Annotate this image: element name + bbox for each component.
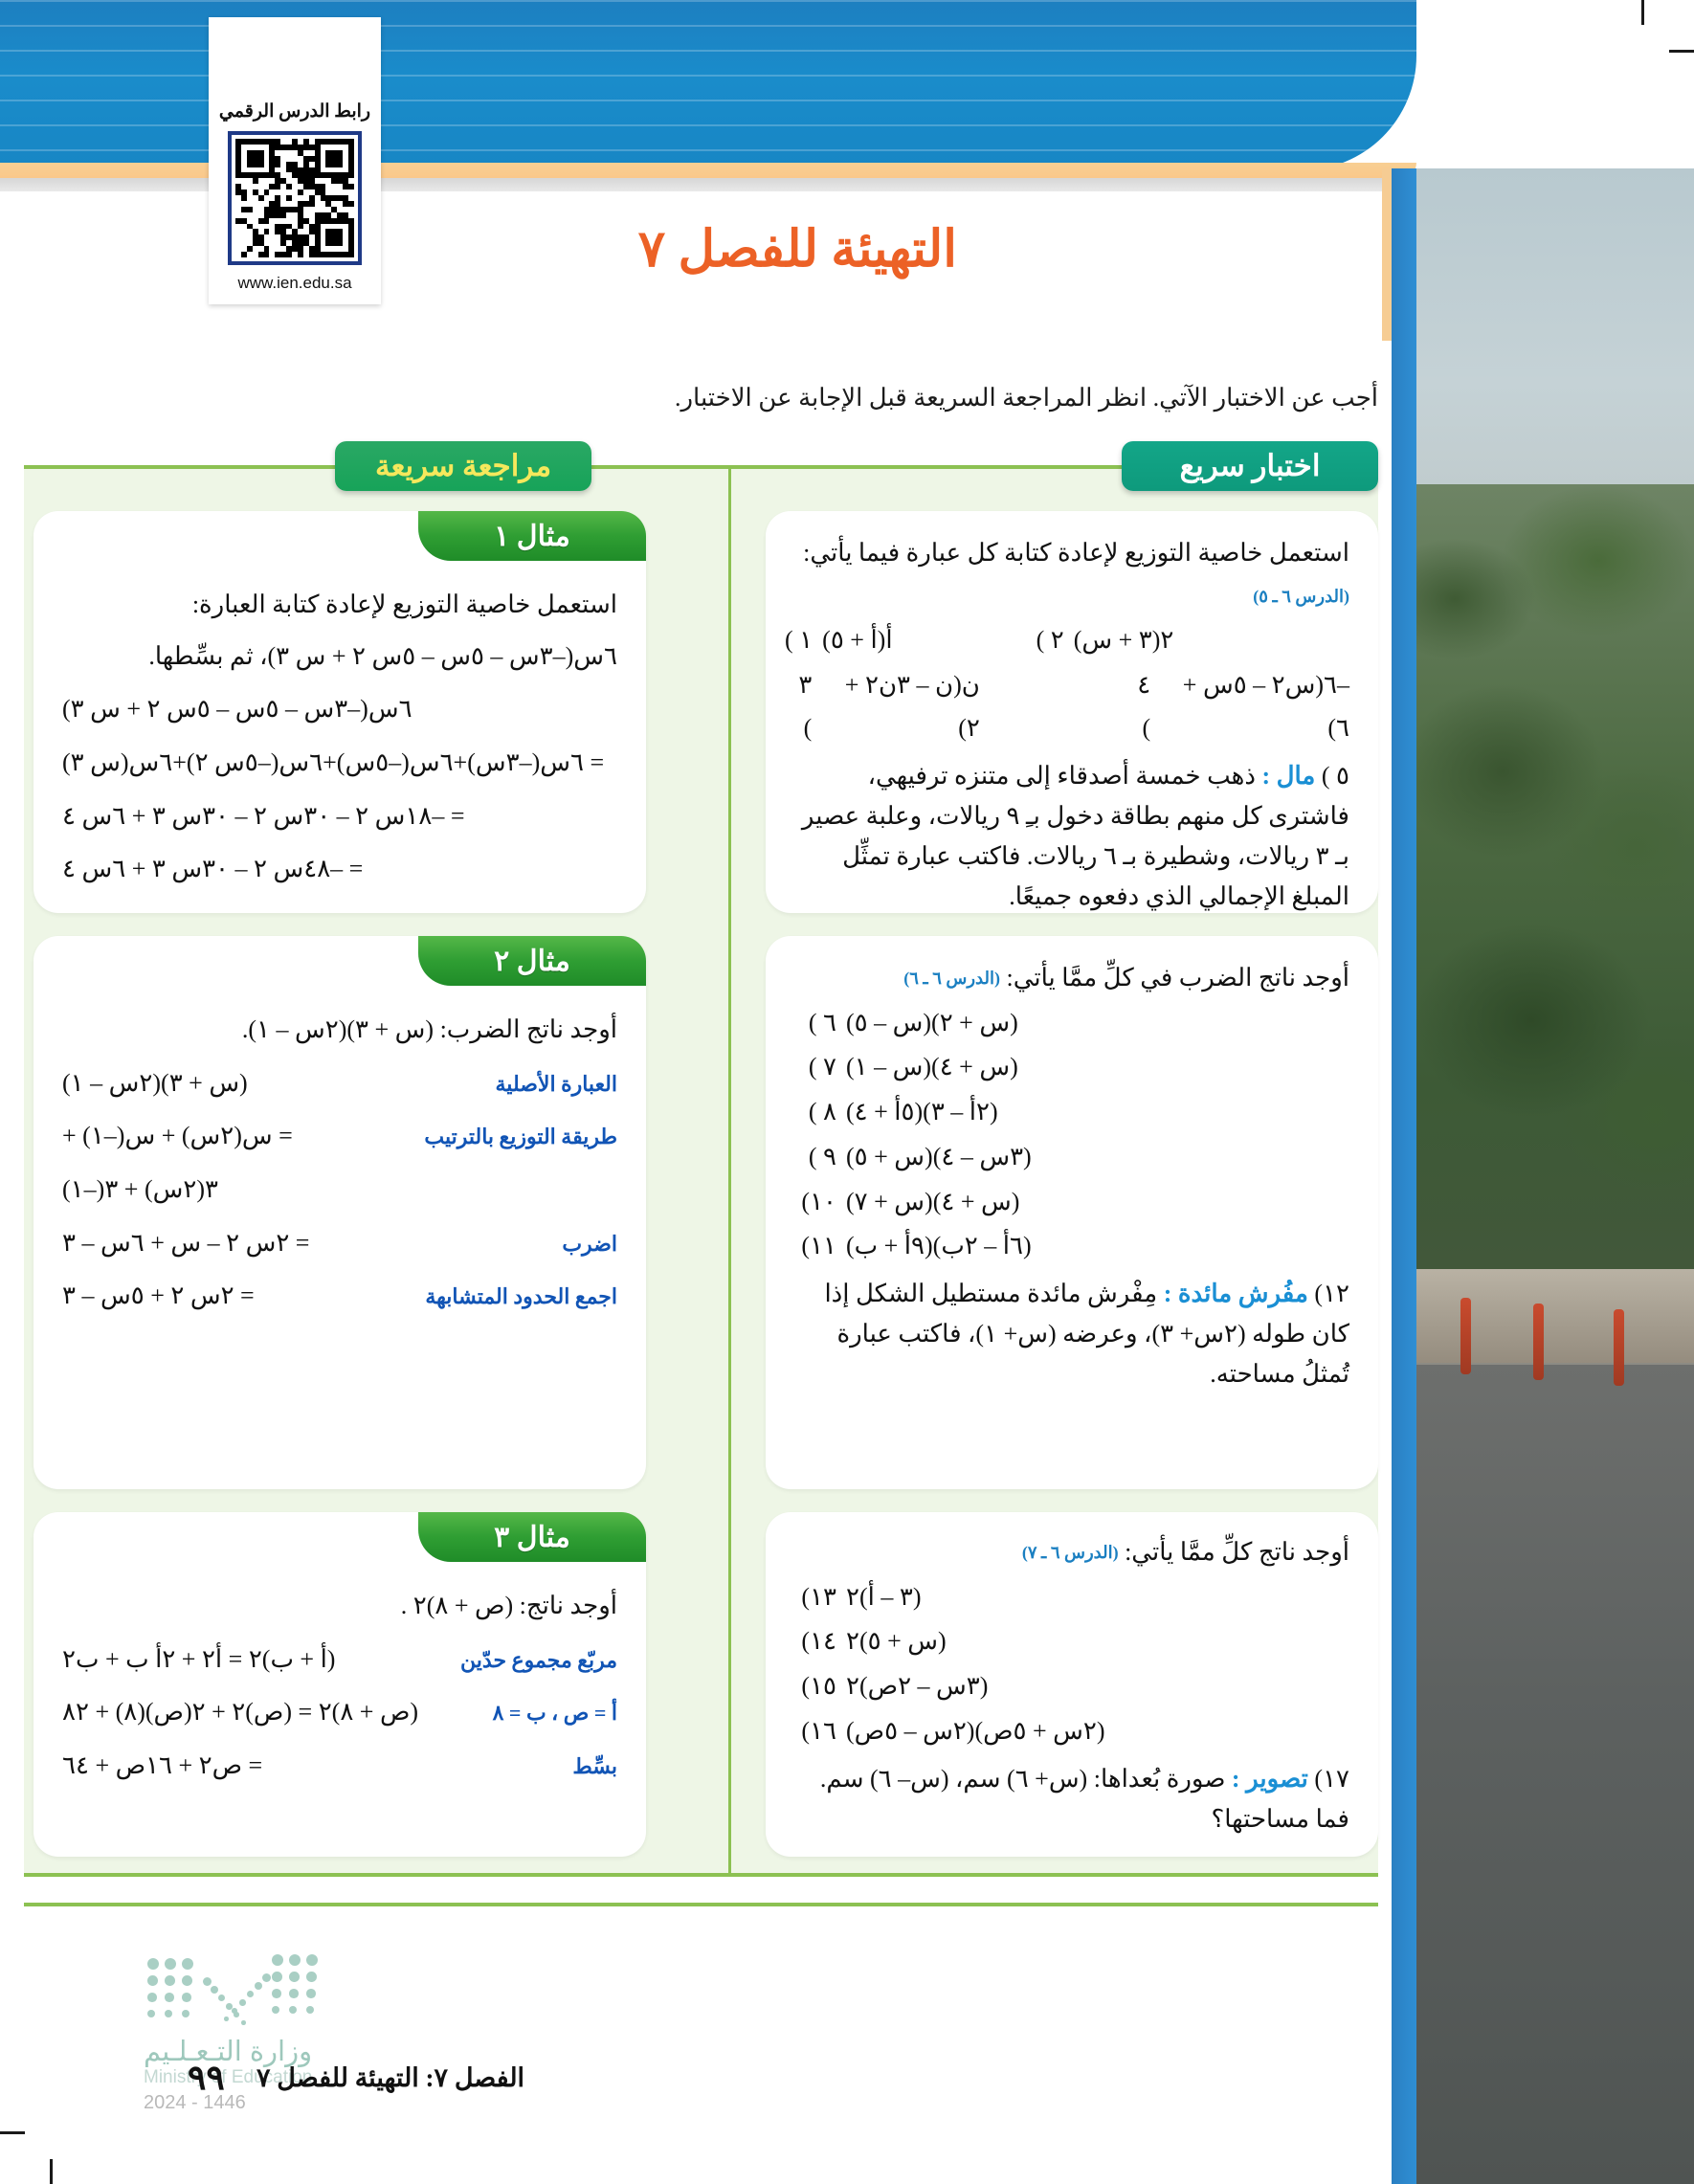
section-header-review: مراجعة سريعة — [335, 441, 591, 491]
example-prompt-line: ٦س(–٣س – ٥س – ٥س ٢ + س ٣)، ثم بسِّطها. — [62, 635, 617, 678]
quiz-item-expression: (٣س – ٢ص)٢ — [846, 1665, 988, 1708]
quiz-item-expression: ٢(٣ + س) — [1074, 619, 1174, 662]
step-note: أ = ص ، ب = ٨ — [489, 1696, 617, 1731]
step-expression: (أ + ب)٢ = أ٢ + ٢أ ب + ب٢ — [62, 1638, 335, 1681]
quiz-prompt-2: أوجد ناتج الضرب في كلِّ ممَّا يأتي: (الد… — [785, 957, 1349, 1000]
step-expression: ٣(٢س) + ٣(–١) — [62, 1169, 218, 1211]
quiz-word-problem-12[interactable]: ١٢) مفُرش مائدة : مِفْرش مائدة مستطيل ال… — [785, 1274, 1349, 1394]
quiz-group-3: أوجد ناتج كلِّ ممَّا يأتي: (الدرس ٦ ـ ٧)… — [785, 1531, 1349, 1839]
step-expression: = –١٨س ٢ – ٣٠س ٢ – ٣٠س ٣ + ٦س ٤ — [62, 795, 465, 837]
review-example-3: أوجد ناتج: (ص + ٨)٢ . (أ + ب)٢ = أ٢ + ٢أ… — [62, 1575, 617, 1787]
example-tab-2: مثال ٢ — [418, 936, 646, 986]
photo-blue-edge — [1392, 168, 1416, 2184]
quiz-item-number: ٨ ) — [785, 1091, 836, 1134]
example-step: (س + ٣)(٢س – ١) العبارة الأصلية — [62, 1062, 617, 1104]
quiz-item-expression: (٦أ – ٢ب)(٩أ + ب) — [846, 1225, 1032, 1268]
photo-bollard — [1533, 1304, 1544, 1380]
review-example-2: أوجد ناتج الضرب: (س + ٣)(٢س – ١). (س + ٣… — [62, 999, 617, 1317]
quiz-item-expression: (٢أ – ٣)(٥أ + ٤) — [846, 1091, 998, 1134]
quiz-item-expression: (س + ٥)٢ — [846, 1620, 947, 1663]
quiz-item-number: ١٧) — [1314, 1765, 1349, 1793]
quiz-item-number: ١٦) — [785, 1710, 836, 1753]
quiz-item-number: ٤ ) — [1124, 664, 1150, 749]
step-note: اجمع الحدود المتشابهة — [421, 1280, 617, 1315]
quiz-item-9[interactable]: ٩ ) (٣س – ٤)(س + ٥) — [785, 1136, 1349, 1179]
quiz-item-number: ٣ ) — [785, 664, 812, 749]
example-tab-1: مثال ١ — [418, 511, 646, 561]
quiz-item-15[interactable]: ١٥) (٣س – ٢ص)٢ — [785, 1665, 1349, 1708]
step-expression: = س(٢س) + س(–١) + — [62, 1115, 293, 1157]
quiz-item-3[interactable]: ٣ ) ن(ن – ٣ن٢ + ٢) — [785, 664, 980, 749]
quiz-prompt-text: استعمل خاصية التوزيع لإعادة كتابة كل عبا… — [803, 539, 1349, 567]
quiz-item-number: ١٣) — [785, 1576, 836, 1619]
quiz-item-number: ١١) — [785, 1225, 836, 1268]
quiz-item-13[interactable]: ١٣) (٣ – أ)٢ — [785, 1576, 1349, 1619]
step-expression: = –٤٨س ٢ – ٣٠س ٣ + ٦س ٤ — [62, 848, 363, 890]
quiz-item-expression: –٦(س٢ – ٥س + ٦) — [1160, 664, 1349, 749]
page-number: ٩٩ — [188, 2058, 225, 2098]
step-note: العبارة الأصلية — [492, 1067, 617, 1103]
qr-label: رابط الدرس الرقمي — [219, 100, 370, 123]
quiz-item-number: ١ ) — [785, 619, 813, 662]
example-step: (ص + ٨)٢ = (ص)٢ + ٢(ص)(٨) + ٨٢ أ = ص ، ب… — [62, 1691, 617, 1733]
quiz-word-problem-5[interactable]: ٥ ) مال : ذهب خمسة أصدقاء إلى متنزه ترفي… — [785, 756, 1349, 917]
crop-mark-bottom-left-v — [50, 2159, 53, 2184]
example-step: (أ + ب)٢ = أ٢ + ٢أ ب + ب٢ مربّع مجموع حد… — [62, 1638, 617, 1681]
quiz-item-number: ٧ ) — [785, 1046, 836, 1089]
step-note: اضرب — [558, 1227, 617, 1262]
quiz-item-4[interactable]: ٤ ) –٦(س٢ – ٥س + ٦) — [1124, 664, 1349, 749]
quiz-item-expression: (٢س + ٥ص)(٢س – ٥ص) — [846, 1710, 1105, 1753]
quiz-item-6[interactable]: ٦ ) (س + ٢)(س – ٥) — [785, 1002, 1349, 1045]
quiz-item-number: ٥ ) — [1322, 762, 1349, 790]
quiz-item-number: ٩ ) — [785, 1136, 836, 1179]
page-title: التهيئة للفصل ٧ — [638, 220, 957, 279]
quiz-prompt-3: أوجد ناتج كلِّ ممَّا يأتي: (الدرس ٦ ـ ٧) — [785, 1531, 1349, 1574]
example-prompt-line: أوجد ناتج الضرب: (س + ٣)(٢س – ١). — [62, 1009, 617, 1051]
quiz-item-expression: (س + ٤)(س – ١) — [846, 1046, 1018, 1089]
quiz-item-10[interactable]: ١٠) (س + ٤)(س + ٧) — [785, 1181, 1349, 1224]
example-step: = س(٢س) + س(–١) + طريقة التوزيع بالترتيب — [62, 1115, 617, 1157]
example-step: = ٢س ٢ + ٥س – ٣ اجمع الحدود المتشابهة — [62, 1275, 617, 1317]
quiz-row: ١ ) أ(أ + ٥) ٢ ) ٢(٣ + س) — [785, 619, 1349, 662]
quiz-item-expression: أ(أ + ٥) — [822, 619, 892, 662]
decorative-photo — [1416, 168, 1694, 2184]
quiz-item-1[interactable]: ١ ) أ(أ + ٥) — [785, 619, 893, 662]
lesson-tag: (الدرس ٦ ـ ٧) — [1022, 1543, 1119, 1562]
quiz-item-8[interactable]: ٨ ) (٢أ – ٣)(٥أ + ٤) — [785, 1091, 1349, 1134]
quiz-prompt-text: أوجد ناتج كلِّ ممَّا يأتي: — [1125, 1538, 1349, 1566]
photo-road — [1416, 1365, 1694, 2184]
quiz-keyword: مفُرش مائدة : — [1164, 1280, 1308, 1307]
step-note: طريقة التوزيع بالترتيب — [420, 1120, 617, 1155]
quiz-item-expression: ن(ن – ٣ن٢ + ٢) — [821, 664, 980, 749]
review-example-1: استعمل خاصية التوزيع لإعادة كتابة العبار… — [62, 574, 617, 890]
example-step: = ٢س ٢ – س + ٦س – ٣ اضرب — [62, 1222, 617, 1264]
example-step: = –١٨س ٢ – ٣٠س ٢ – ٣٠س ٣ + ٦س ٤ — [62, 795, 617, 837]
logo-dots-pattern — [144, 1952, 345, 2029]
quiz-item-7[interactable]: ٧ ) (س + ٤)(س – ١) — [785, 1046, 1349, 1089]
step-expression: = ص٢ + ١٦ص + ٦٤ — [62, 1745, 262, 1787]
step-expression: = ٦س(–٣س)+٦س(–٥س)+٦س(–٥س ٢)+٦س(س ٣) — [62, 742, 604, 784]
quiz-item-number: ١٠) — [785, 1181, 836, 1224]
quiz-row: ٣ ) ن(ن – ٣ن٢ + ٢) ٤ ) –٦(س٢ – ٥س + ٦) — [785, 664, 1349, 749]
crop-mark-top-right-v — [1641, 0, 1644, 25]
quiz-item-number: ١٤) — [785, 1620, 836, 1663]
example-prompt-line: استعمل خاصية التوزيع لإعادة كتابة العبار… — [62, 584, 617, 626]
quiz-item-number: ١٢) — [1314, 1280, 1349, 1307]
quiz-item-2[interactable]: ٢ ) ٢(٣ + س) — [1036, 619, 1174, 662]
photo-bollard — [1614, 1309, 1624, 1386]
step-expression: = ٢س ٢ – س + ٦س – ٣ — [62, 1222, 309, 1264]
step-expression: (ص + ٨)٢ = (ص)٢ + ٢(ص)(٨) + ٨٢ — [62, 1691, 418, 1733]
quiz-item-expression: (٣س – ٤)(س + ٥) — [846, 1136, 1032, 1179]
quiz-keyword: مال : — [1261, 762, 1315, 790]
quiz-group-1: استعمل خاصية التوزيع لإعادة كتابة كل عبا… — [785, 532, 1349, 917]
example-step: = –٤٨س ٢ – ٣٠س ٣ + ٦س ٤ — [62, 848, 617, 890]
quiz-item-expression: (س + ٢)(س – ٥) — [846, 1002, 1018, 1045]
photo-bollard — [1460, 1298, 1471, 1374]
example-step: ٣(٢س) + ٣(–١) — [62, 1169, 617, 1211]
intro-text: أجب عن الاختبار الآتي. انظر المراجعة الس… — [364, 381, 1378, 415]
quiz-item-number: ١٥) — [785, 1665, 836, 1708]
qr-url: www.ien.edu.sa — [237, 274, 351, 293]
step-note: مربّع مجموع حدّين — [457, 1643, 617, 1679]
digital-lesson-qr-card[interactable]: رابط الدرس الرقمي www.ien.edu.sa — [209, 17, 381, 304]
crop-mark-top-right-h — [1669, 50, 1694, 53]
step-note: بسِّط — [568, 1749, 617, 1785]
footer-caption: الفصل ٧: التهيئة للفصل ٧ — [256, 2063, 524, 2093]
step-expression: = ٢س ٢ + ٥س – ٣ — [62, 1275, 255, 1317]
column-divider — [728, 465, 731, 1877]
quiz-item-11[interactable]: ١١) (٦أ – ٢ب)(٩أ + ب) — [785, 1225, 1349, 1268]
example-prompt-line: أوجد ناتج: (ص + ٨)٢ . — [62, 1585, 617, 1627]
example-step: = ٦س(–٣س)+٦س(–٥س)+٦س(–٥س ٢)+٦س(س ٣) — [62, 742, 617, 784]
qr-code-image[interactable] — [228, 131, 362, 265]
section-header-quiz: اختبار سريع — [1122, 441, 1378, 491]
step-expression: ٦س(–٣س – ٥س – ٥س ٢ + س ٣) — [62, 688, 412, 730]
quiz-item-14[interactable]: ١٤) (س + ٥)٢ — [785, 1620, 1349, 1663]
example-tab-3: مثال ٣ — [418, 1512, 646, 1562]
quiz-item-number: ٦ ) — [785, 1002, 836, 1045]
step-expression: (س + ٣)(٢س – ١) — [62, 1062, 248, 1104]
example-step: ٦س(–٣س – ٥س – ٥س ٢ + س ٣) — [62, 688, 617, 730]
lesson-tag: (الدرس ٦ ـ ٦) — [903, 969, 1000, 988]
quiz-prompt-1: استعمل خاصية التوزيع لإعادة كتابة كل عبا… — [785, 532, 1349, 617]
quiz-prompt-text: أوجد ناتج الضرب في كلِّ ممَّا يأتي: — [1006, 964, 1349, 992]
quiz-word-problem-17[interactable]: ١٧) تصوير : صورة بُعداها: (س+ ٦) سم، (س–… — [785, 1759, 1349, 1839]
quiz-group-2: أوجد ناتج الضرب في كلِّ ممَّا يأتي: (الد… — [785, 957, 1349, 1394]
quiz-item-number: ٢ ) — [1036, 619, 1064, 662]
quiz-item-expression: (س + ٤)(س + ٧) — [846, 1181, 1019, 1224]
photo-gold-edge — [1382, 168, 1392, 341]
photo-trees — [1416, 484, 1694, 1346]
quiz-item-expression: (٣ – أ)٢ — [846, 1576, 922, 1619]
quiz-keyword: تصوير : — [1232, 1765, 1308, 1793]
footer-divider — [24, 1903, 1378, 1906]
lesson-tag: (الدرس ٦ ـ ٥) — [1253, 587, 1349, 606]
crop-mark-bottom-left-h — [0, 2131, 25, 2134]
example-step: = ص٢ + ١٦ص + ٦٤ بسِّط — [62, 1745, 617, 1787]
quiz-item-16[interactable]: ١٦) (٢س + ٥ص)(٢س – ٥ص) — [785, 1710, 1349, 1753]
